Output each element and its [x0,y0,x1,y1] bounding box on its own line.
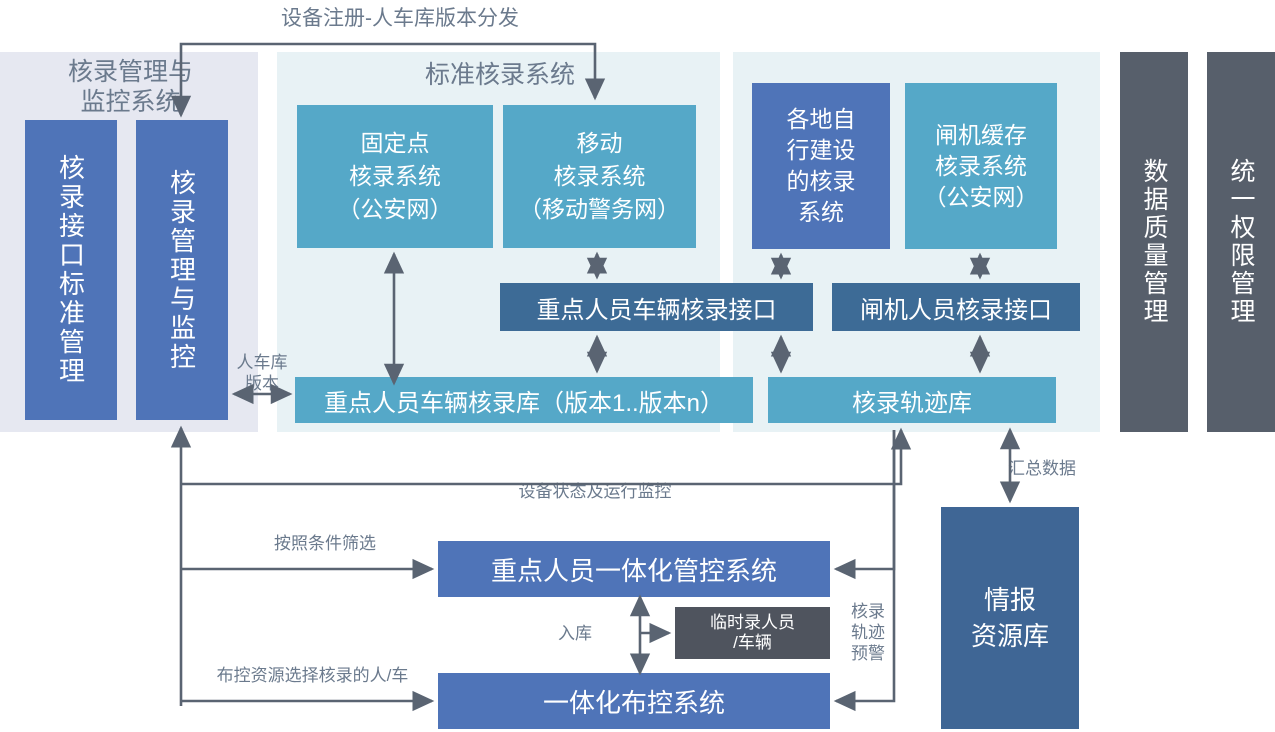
label-deploy-resource-select: 布控资源选择核录的人/车 [185,665,440,686]
sidebar-unified-permission-management[interactable]: 统一权限管理 [1207,52,1275,432]
label-device-status: 设备状态及运行监控 [440,481,750,502]
panel-standard-title: 标准核录系统 [340,60,660,90]
box-temp-person-vehicle[interactable]: 临时录人员 /车辆 [675,607,830,659]
label-filter-by-condition: 按照条件筛选 [215,533,435,554]
box-gate-cache-system[interactable]: 闸机缓存 核录系统 （公安网） [905,83,1057,249]
box-record-management-monitoring[interactable]: 核录管理与监控 [136,120,228,420]
label-enter-library: 入库 [546,623,604,644]
box-key-person-vehicle-interface[interactable]: 重点人员车辆核录接口 [500,283,813,331]
box-local-built-system[interactable]: 各地自 行建设 的核录 系统 [752,83,890,249]
wire-device-status-bus [181,430,901,484]
label-ren-che-version: 人车库 版本 [229,352,295,394]
box-mobile-system[interactable]: 移动 核录系统 （移动警务网） [503,105,696,248]
box-key-person-integrated-control[interactable]: 重点人员一体化管控系统 [438,541,830,597]
box-integrated-deployment-system[interactable]: 一体化布控系统 [438,673,830,729]
wire-track-to-control [836,430,894,569]
box-gate-person-interface[interactable]: 闸机人员核录接口 [832,283,1080,331]
box-intelligence-resource-db[interactable]: 情报 资源库 [941,507,1079,729]
panel-left-title: 核录管理与 监控系统 [38,57,223,117]
sidebar-data-quality-management[interactable]: 数据质量管理 [1120,52,1188,432]
label-summary-data: 汇总数据 [988,458,1096,479]
box-fixed-point-system[interactable]: 固定点 核录系统 （公安网） [297,105,493,248]
box-key-person-vehicle-db[interactable]: 重点人员车辆核录库（版本1..版本n） [295,377,753,423]
diagram-canvas: 核录管理与 监控系统 标准核录系统 设备注册-人车库版本分发 核录接口标准管理 … [0,0,1275,732]
label-track-alert: 核录 轨迹 预警 [848,601,888,664]
box-record-track-db[interactable]: 核录轨迹库 [768,377,1056,423]
top-flow-label: 设备注册-人车库版本分发 [150,6,650,32]
box-interface-standard-management[interactable]: 核录接口标准管理 [25,120,117,420]
